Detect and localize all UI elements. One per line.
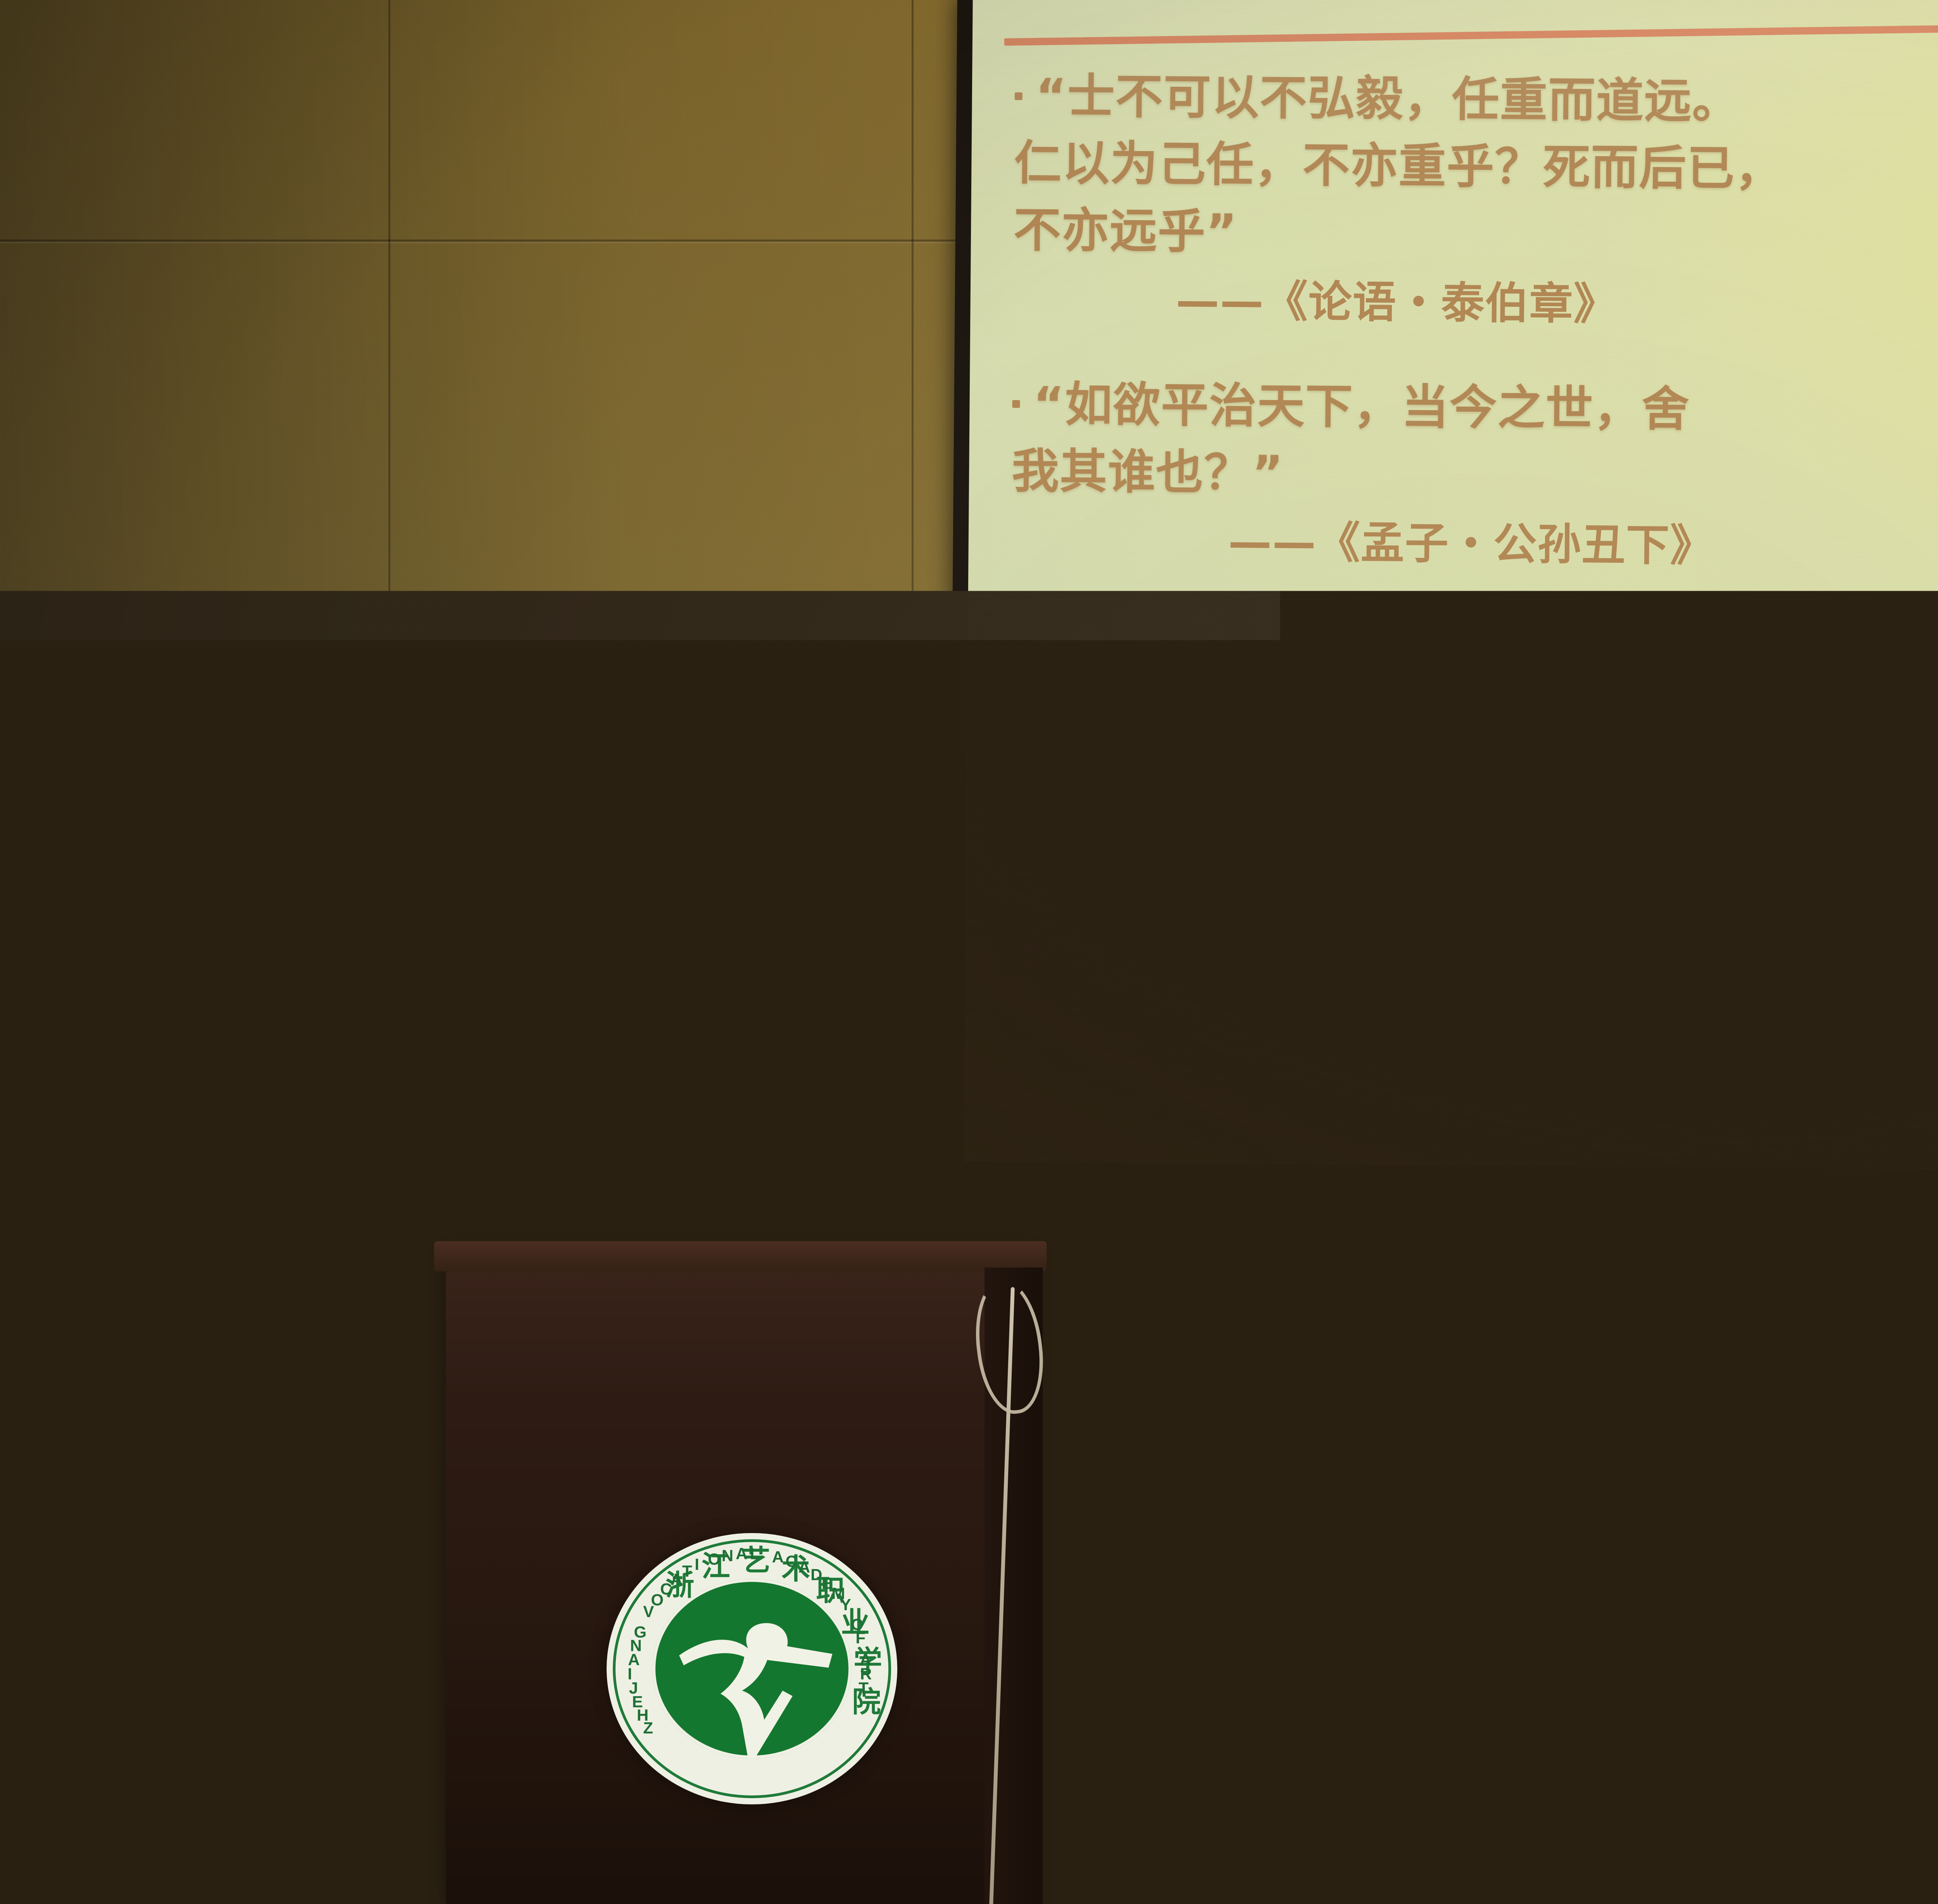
hair	[728, 892, 897, 1019]
mouth	[798, 1015, 832, 1039]
quote-source: ——《论语・泰伯章》	[1013, 269, 1938, 338]
eye-right	[828, 982, 856, 992]
quote-line: “如欲平治天下，当今之世，舍	[1012, 371, 1938, 446]
wood-panel-seam	[1911, 1558, 1919, 1904]
eyebrow-right	[826, 968, 860, 973]
podium-top-edge	[434, 1241, 1047, 1271]
quote-source: ——《孟子・公孙丑下》	[1011, 510, 1938, 579]
slide-top-rule	[1004, 12, 1938, 46]
emblem-text-ring: 浙 江 艺 术 职 业 学 院 Z H E J I A N G V O C A …	[607, 1533, 897, 1804]
presentation-photo: “士不可以不弘毅，任重而道远。 仁以为己任，不亦重乎？死而后已， 不亦远乎” —…	[0, 0, 1938, 1904]
bullet-marker	[1015, 92, 1022, 100]
quote-line: “士不可以不弘毅，任重而道远。	[1014, 62, 1938, 138]
eye-left	[767, 982, 795, 992]
wood-grain	[1147, 1550, 1907, 1904]
wall-panel-seam	[1860, 1167, 1862, 1516]
shirt-collar	[733, 1112, 872, 1159]
slide-text-body: “士不可以不弘毅，任重而道远。 仁以为己任，不亦重乎？死而后已， 不亦远乎” —…	[1010, 62, 1938, 619]
hair-strand-right	[886, 919, 928, 1089]
projection-screen: “士不可以不弘毅，任重而道远。 仁以为己任，不亦重乎？死而后已， 不亦远乎” —…	[964, 0, 1938, 1177]
school-emblem: 浙 江 艺 术 职 业 学 院 Z H E J I A N G V O C A …	[607, 1533, 897, 1804]
wall-panel-seam	[349, 1167, 351, 1516]
quote-block-analects: “士不可以不弘毅，任重而道远。 仁以为己任，不亦重乎？死而后已， 不亦远乎” —…	[1013, 62, 1938, 338]
quote-line: 仁以为己任，不亦重乎？死而后已，	[1014, 129, 1938, 205]
bullet-marker	[1012, 400, 1020, 408]
eyebrow-left	[765, 968, 799, 973]
wood-wall-panel-left	[1147, 1550, 1907, 1904]
wall-panel-seam	[1357, 1167, 1359, 1516]
wood-panel-cap	[1147, 1529, 1907, 1553]
quote-block-mencius: “如欲平治天下，当今之世，舍 我其谁也？” ——《孟子・公孙丑下》	[1011, 371, 1938, 579]
quote-line: 不亦远乎”	[1013, 197, 1938, 272]
quote-line: 我其谁也？”	[1012, 438, 1938, 513]
slide-bottom-wave	[964, 754, 1938, 1177]
projection-screen-frame: “士不可以不弘毅，任重而道远。 仁以为己任，不亦重乎？死而后已， 不亦远乎” —…	[948, 0, 1938, 1193]
